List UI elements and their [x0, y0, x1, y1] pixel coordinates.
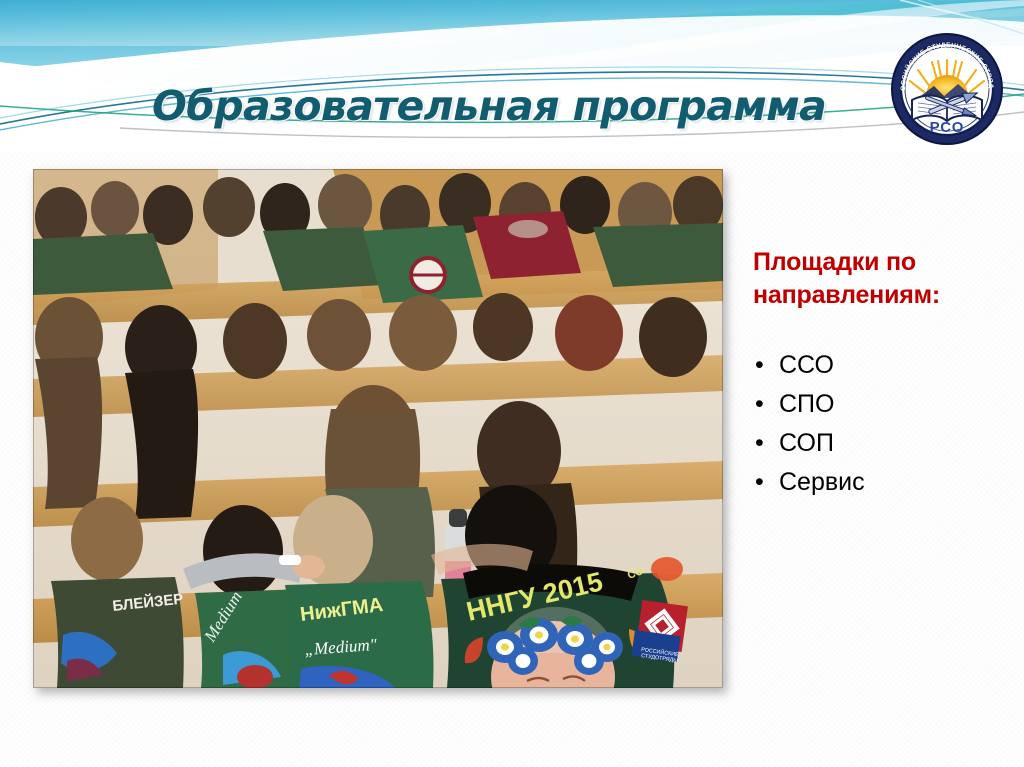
list-item-label: Сервис — [779, 468, 865, 496]
list-item-label: ССО — [779, 351, 834, 379]
svg-text:РСО: РСО — [930, 119, 965, 136]
list-item-servis[interactable]: • Сервис — [753, 463, 1015, 502]
lecture-hall-photo: БЛЕЙЗЕР Medium НижГМА „Medium" — [33, 169, 723, 688]
bullet-icon: • — [755, 463, 764, 502]
page-title: Образовательная программа — [152, 76, 872, 138]
list-item-label: СПО — [779, 390, 834, 418]
directions-panel: Площадки по направлениям: • ССО • СПО • … — [753, 246, 1015, 502]
directions-heading: Площадки по направлениям: — [753, 246, 1015, 312]
list-item-spo[interactable]: • СПО — [753, 385, 1015, 424]
directions-list: • ССО • СПО • СОП • Сервис — [753, 346, 1015, 502]
list-item-sop[interactable]: • СОП — [753, 424, 1015, 463]
rso-logo-icon: РОССИЙСКИЕ СТУДЕНЧЕСКИЕ ОТРЯДЫ Нижегород… — [888, 30, 1006, 148]
bullet-icon: • — [755, 424, 764, 463]
list-item-sso[interactable]: • ССО — [753, 346, 1015, 385]
slide-canvas: Образовательная программа РОССИЙСКИЕ СТУ… — [0, 0, 1024, 767]
list-item-label: СОП — [779, 429, 834, 457]
bullet-icon: • — [755, 385, 764, 424]
bullet-icon: • — [755, 346, 764, 385]
